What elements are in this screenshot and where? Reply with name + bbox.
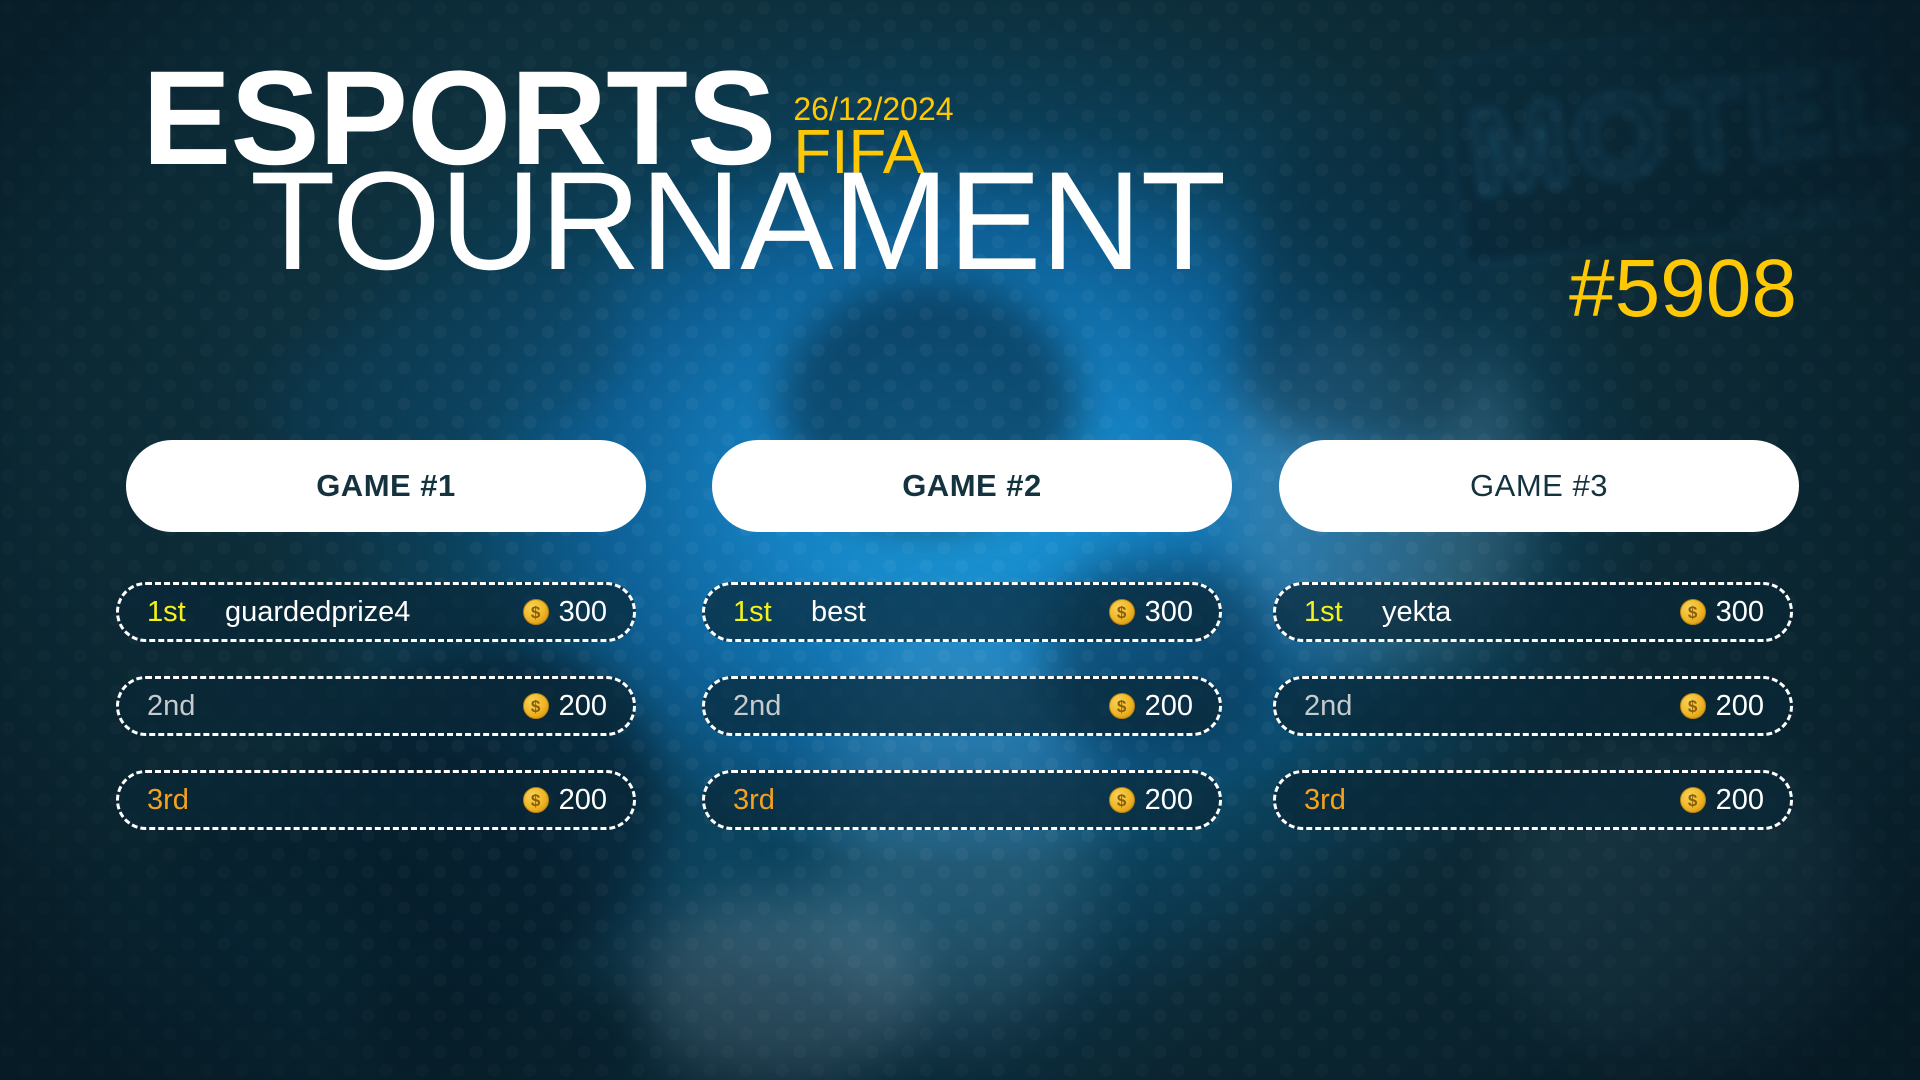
player-name: guardedprize4 — [225, 596, 523, 629]
tournament-number: #5908 — [1569, 248, 1797, 330]
player-name: best — [811, 596, 1109, 629]
prize-amount: 200 — [559, 690, 607, 723]
prize-row[interactable]: 3rd $ 200 — [116, 770, 636, 830]
rank-label: 1st — [147, 596, 211, 629]
coin-dollar-icon: $ — [1680, 693, 1706, 719]
prize-amount-group: $ 200 — [523, 784, 607, 817]
game-title-3[interactable]: GAME #3 — [1279, 440, 1799, 532]
coin-dollar-icon: $ — [523, 599, 549, 625]
prize-amount: 300 — [1145, 596, 1193, 629]
prize-row[interactable]: 1st best $ 300 — [702, 582, 1222, 642]
prize-amount-group: $ 300 — [1680, 596, 1764, 629]
prize-amount-group: $ 200 — [523, 690, 607, 723]
prize-amount-group: $ 200 — [1680, 690, 1764, 723]
prize-row[interactable]: 1st guardedprize4 $ 300 — [116, 582, 636, 642]
prize-amount-group: $ 200 — [1109, 690, 1193, 723]
prize-row[interactable]: 2nd $ 200 — [1273, 676, 1793, 736]
game-column-2: GAME #2 1st best $ 300 2nd $ 200 — [712, 440, 1232, 864]
prize-amount: 200 — [1145, 784, 1193, 817]
page-title-secondary: TOURNAMENT — [250, 158, 1462, 284]
prize-row[interactable]: 3rd $ 200 — [1273, 770, 1793, 830]
prize-amount: 200 — [1145, 690, 1193, 723]
prize-row[interactable]: 2nd $ 200 — [116, 676, 636, 736]
prize-amount-group: $ 300 — [1109, 596, 1193, 629]
prize-amount: 300 — [559, 596, 607, 629]
poster-content: ESPORTS 26/12/2024 FIFA TOURNAMENT #5908… — [0, 0, 1920, 1080]
game-column-1: GAME #1 1st guardedprize4 $ 300 2nd $ 20… — [126, 440, 646, 864]
prize-amount: 200 — [1716, 690, 1764, 723]
prize-amount-group: $ 300 — [523, 596, 607, 629]
prize-list-2: 1st best $ 300 2nd $ 200 3rd — [702, 582, 1222, 830]
game-title-2[interactable]: GAME #2 — [712, 440, 1232, 532]
game-column-3: GAME #3 1st yekta $ 300 2nd $ 200 — [1283, 440, 1803, 864]
prize-list-1: 1st guardedprize4 $ 300 2nd $ 200 — [116, 582, 636, 830]
coin-dollar-icon: $ — [523, 787, 549, 813]
player-name: yekta — [1382, 596, 1680, 629]
game-title-1[interactable]: GAME #1 — [126, 440, 646, 532]
prize-amount: 300 — [1716, 596, 1764, 629]
coin-dollar-icon: $ — [1109, 787, 1135, 813]
prize-row[interactable]: 2nd $ 200 — [702, 676, 1222, 736]
rank-label: 2nd — [1304, 690, 1368, 723]
rank-label: 3rd — [733, 784, 797, 817]
coin-dollar-icon: $ — [1109, 599, 1135, 625]
prize-list-3: 1st yekta $ 300 2nd $ 200 3rd — [1273, 582, 1793, 830]
prize-row[interactable]: 1st yekta $ 300 — [1273, 582, 1793, 642]
coin-dollar-icon: $ — [1680, 599, 1706, 625]
prize-amount-group: $ 200 — [1109, 784, 1193, 817]
rank-label: 2nd — [147, 690, 211, 723]
prize-row[interactable]: 3rd $ 200 — [702, 770, 1222, 830]
rank-label: 1st — [1304, 596, 1368, 629]
rank-label: 2nd — [733, 690, 797, 723]
prize-amount: 200 — [559, 784, 607, 817]
prize-amount-group: $ 200 — [1680, 784, 1764, 817]
rank-label: 3rd — [1304, 784, 1368, 817]
rank-label: 1st — [733, 596, 797, 629]
coin-dollar-icon: $ — [523, 693, 549, 719]
prize-amount: 200 — [1716, 784, 1764, 817]
title-block: ESPORTS 26/12/2024 FIFA TOURNAMENT — [142, 55, 1462, 284]
rank-label: 3rd — [147, 784, 211, 817]
coin-dollar-icon: $ — [1109, 693, 1135, 719]
coin-dollar-icon: $ — [1680, 787, 1706, 813]
